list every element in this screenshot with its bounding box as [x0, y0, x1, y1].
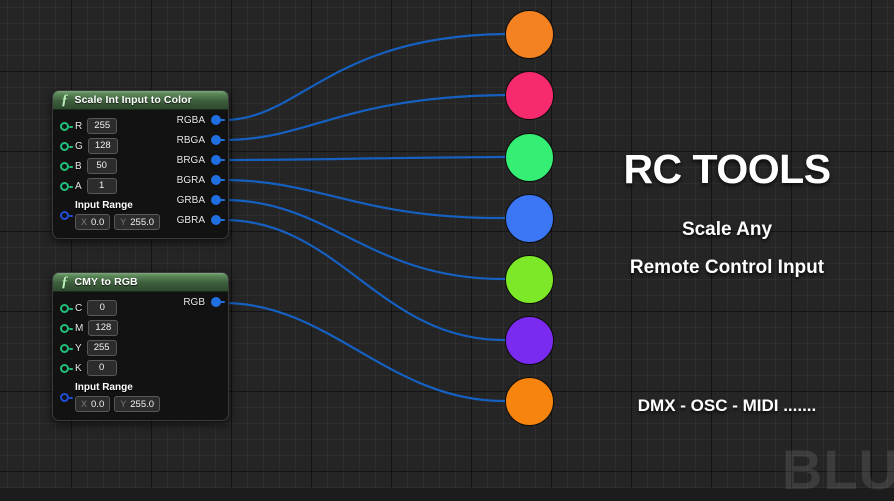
node-header[interactable]: ƒ Scale Int Input to Color	[53, 91, 228, 110]
swatch-purple[interactable]	[505, 316, 554, 365]
output-pin-label: RBGA	[177, 135, 205, 146]
input-range-y-field[interactable]: Y 255.0	[114, 214, 160, 230]
axis-value-y: 255.0	[130, 399, 154, 410]
input-pin-icon[interactable]	[60, 142, 69, 151]
node-title: Scale Int Input to Color	[75, 94, 192, 106]
output-pin-label: BGRA	[177, 175, 205, 186]
output-pin-row[interactable]: RGBA	[177, 110, 221, 130]
input-range-x-field[interactable]: X 0.0	[75, 396, 110, 412]
output-pin-row[interactable]: GBRA	[177, 210, 221, 230]
node-header[interactable]: ƒ CMY to RGB	[53, 273, 228, 292]
output-pin-label: RGBA	[177, 115, 205, 126]
input-range-pin-icon[interactable]	[60, 393, 69, 402]
input-value-field[interactable]: 0	[87, 360, 117, 376]
input-value-field[interactable]: 255	[87, 340, 117, 356]
input-range-block: Input Range X 0.0 Y 255.0	[75, 200, 160, 230]
output-pin-icon[interactable]	[211, 115, 221, 125]
swatch-orange-2[interactable]	[505, 377, 554, 426]
input-range-fields: X 0.0 Y 255.0	[75, 214, 160, 230]
input-range-block: Input Range X 0.0 Y 255.0	[75, 382, 160, 412]
input-value-field[interactable]: 0	[87, 300, 117, 316]
axis-value-x: 0.0	[91, 399, 104, 410]
swatch-pink[interactable]	[505, 71, 554, 120]
input-range-title: Input Range	[75, 200, 160, 211]
output-pin-icon[interactable]	[211, 175, 221, 185]
input-pin-label: K	[75, 363, 82, 374]
swatch-orange[interactable]	[505, 10, 554, 59]
output-pin-row[interactable]: BGRA	[177, 170, 221, 190]
axis-label-x: X	[81, 399, 87, 409]
output-pin-label: GBRA	[177, 215, 205, 226]
input-range-y-field[interactable]: Y 255.0	[114, 396, 160, 412]
input-pin-label: B	[75, 161, 82, 172]
node-body: C 0 M 128 Y 255 K 0 Input Range	[53, 292, 228, 420]
input-pin-label: R	[75, 121, 82, 132]
axis-value-y: 255.0	[130, 217, 154, 228]
input-value-field[interactable]: 128	[88, 320, 118, 336]
input-value-field[interactable]: 255	[87, 118, 117, 134]
input-range-row[interactable]: Input Range X 0.0 Y 255.0	[53, 382, 228, 412]
input-pin-label: C	[75, 303, 82, 314]
output-pin-icon[interactable]	[211, 195, 221, 205]
axis-label-x: X	[81, 217, 87, 227]
swatch-lime[interactable]	[505, 255, 554, 304]
swatch-spring-green[interactable]	[505, 133, 554, 182]
input-pin-label: M	[75, 323, 83, 334]
input-range-pin-icon[interactable]	[60, 211, 69, 220]
input-value-field[interactable]: 1	[87, 178, 117, 194]
input-pin-row[interactable]: Y 255	[53, 338, 228, 358]
output-pin-row[interactable]: GRBA	[177, 190, 221, 210]
node-scale-int-input-to-color[interactable]: ƒ Scale Int Input to Color R 255 G 128 B…	[52, 90, 229, 239]
output-pin-label: BRGA	[177, 155, 205, 166]
input-pin-label: A	[75, 181, 82, 192]
input-value-field[interactable]: 50	[87, 158, 117, 174]
output-pin-icon[interactable]	[211, 155, 221, 165]
output-pin-row[interactable]: RBGA	[177, 130, 221, 150]
output-pin-row[interactable]: RGB	[183, 292, 221, 312]
input-value-field[interactable]: 128	[88, 138, 118, 154]
output-pin-icon[interactable]	[211, 135, 221, 145]
input-range-pin-wrap	[60, 382, 69, 412]
input-pin-icon[interactable]	[60, 344, 69, 353]
function-icon: ƒ	[61, 93, 69, 108]
input-range-pin-wrap	[60, 200, 69, 230]
input-pin-icon[interactable]	[60, 162, 69, 171]
axis-value-x: 0.0	[91, 217, 104, 228]
brand-watermark: BLU	[782, 442, 894, 498]
input-pin-icon[interactable]	[60, 122, 69, 131]
output-pin-row[interactable]: BRGA	[177, 150, 221, 170]
output-pin-label: RGB	[183, 297, 205, 308]
input-pin-icon[interactable]	[60, 182, 69, 191]
input-pin-icon[interactable]	[60, 364, 69, 373]
output-pin-icon[interactable]	[211, 215, 221, 225]
node-body: R 255 G 128 B 50 A 1 Input Range	[53, 110, 228, 238]
input-pin-label: Y	[75, 343, 82, 354]
input-range-x-field[interactable]: X 0.0	[75, 214, 110, 230]
input-pin-row[interactable]: K 0	[53, 358, 228, 378]
output-pin-icon[interactable]	[211, 297, 221, 307]
input-pin-row[interactable]: M 128	[53, 318, 228, 338]
output-pin-label: GRBA	[177, 195, 205, 206]
function-icon: ƒ	[61, 275, 69, 290]
input-pin-label: G	[75, 141, 83, 152]
input-pin-icon[interactable]	[60, 304, 69, 313]
input-range-fields: X 0.0 Y 255.0	[75, 396, 160, 412]
swatch-blue[interactable]	[505, 194, 554, 243]
axis-label-y: Y	[120, 399, 126, 409]
node-title: CMY to RGB	[75, 276, 138, 288]
axis-label-y: Y	[120, 217, 126, 227]
input-pin-icon[interactable]	[60, 324, 69, 333]
node-cmy-to-rgb[interactable]: ƒ CMY to RGB C 0 M 128 Y 255 K 0	[52, 272, 229, 421]
input-range-title: Input Range	[75, 382, 160, 393]
